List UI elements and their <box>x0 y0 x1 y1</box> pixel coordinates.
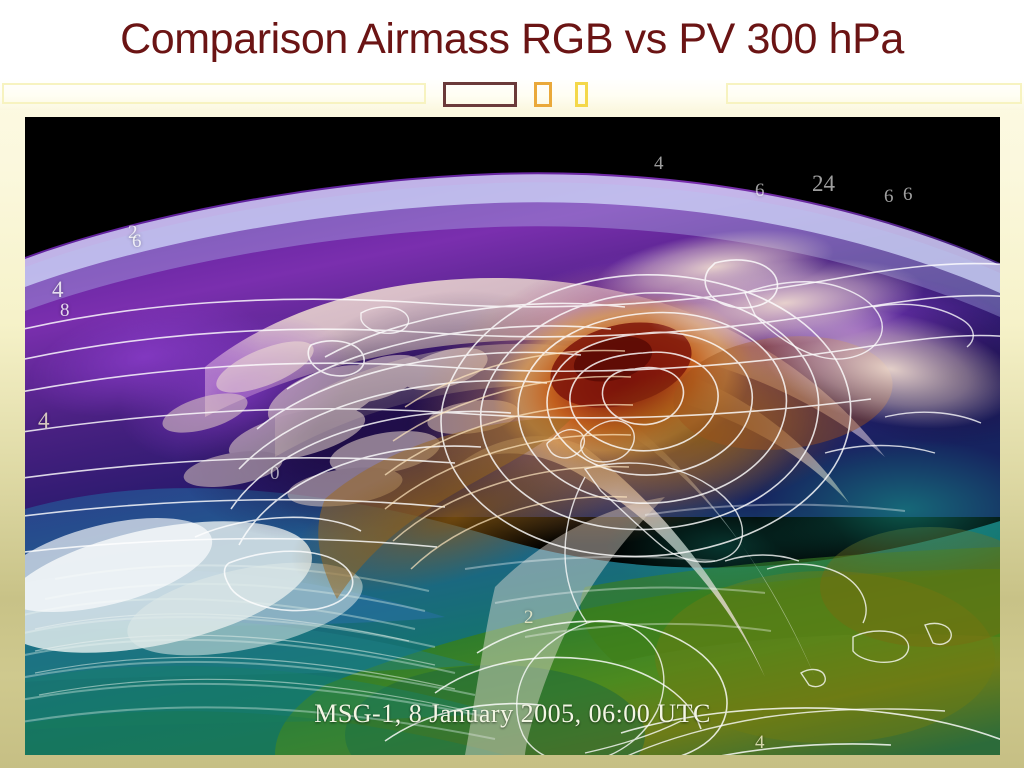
decorative-divider <box>0 78 1024 110</box>
slide-title-bar: Comparison Airmass RGB vs PV 300 hPa <box>0 6 1024 72</box>
page-title: Comparison Airmass RGB vs PV 300 hPa <box>120 18 904 61</box>
divider-square-b <box>575 82 588 107</box>
divider-center-box <box>443 82 517 107</box>
divider-left-bar <box>2 83 426 104</box>
divider-right-bar <box>726 83 1022 104</box>
satellite-image: 2 6 4 8 4 0 4 6 24 6 6 2 4 MSG-1, 8 Janu… <box>25 117 1000 755</box>
airmass-rgb-canvas <box>25 117 1000 755</box>
divider-square-a <box>534 82 552 107</box>
